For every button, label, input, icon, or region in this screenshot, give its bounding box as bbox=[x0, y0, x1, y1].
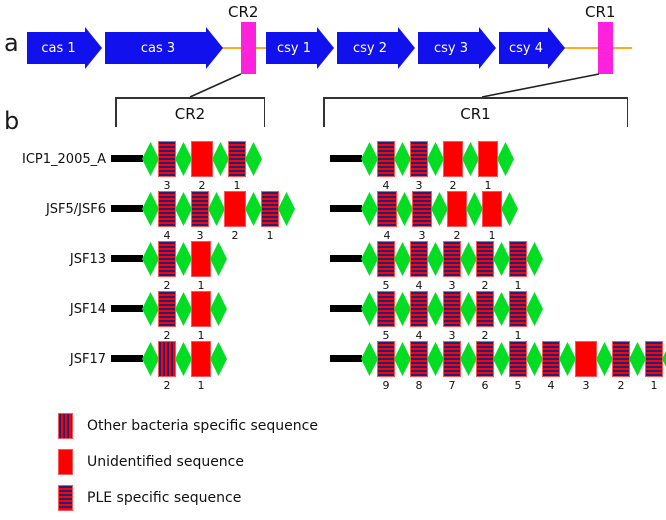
spacer-1[interactable]: 1 bbox=[261, 191, 279, 227]
repeat-unit bbox=[431, 192, 448, 226]
repeat-unit bbox=[629, 342, 646, 376]
crispr-array-cr2: 21 bbox=[143, 336, 226, 382]
repeat-unit bbox=[460, 292, 477, 326]
spacer-number: 1 bbox=[198, 380, 205, 391]
spacer-2[interactable]: 2 bbox=[224, 191, 246, 227]
spacer-number: 5 bbox=[515, 380, 522, 391]
spacer-2[interactable]: 2 bbox=[158, 341, 176, 377]
spacer-number: 6 bbox=[482, 380, 489, 391]
spacer-number: 9 bbox=[383, 380, 390, 391]
repeat-unit bbox=[210, 242, 227, 276]
repeat-unit bbox=[245, 142, 262, 176]
spacer-number: 4 bbox=[548, 380, 555, 391]
spacer-4[interactable]: 4 bbox=[542, 341, 560, 377]
repeat-unit bbox=[175, 342, 192, 376]
spacer-1[interactable]: 1 bbox=[482, 191, 502, 227]
crispr-array-cr2: 321 bbox=[143, 136, 261, 182]
spacer-4[interactable]: 4 bbox=[410, 241, 428, 277]
leader-sequence-cr1 bbox=[330, 305, 362, 312]
gene-label-cas3: cas 3 bbox=[105, 41, 223, 56]
leader-sequence-cr1 bbox=[330, 205, 362, 212]
repeat-unit bbox=[427, 142, 444, 176]
legend-swatch-ple bbox=[58, 485, 73, 511]
spacer-1[interactable]: 1 bbox=[191, 241, 211, 277]
crispr-array-cr1: 54321 bbox=[362, 236, 542, 282]
spacer-1[interactable]: 1 bbox=[478, 141, 498, 177]
crispr-array-cr2: 21 bbox=[143, 286, 226, 332]
leader-sequence-cr2 bbox=[111, 205, 143, 212]
repeat-unit bbox=[526, 242, 543, 276]
legend-row: PLE specific sequence bbox=[58, 484, 318, 512]
repeat-unit bbox=[175, 142, 192, 176]
gene-label-cas1: cas 1 bbox=[27, 41, 102, 56]
repeat-unit bbox=[175, 292, 192, 326]
spacer-number: 2 bbox=[164, 380, 171, 391]
repeat-unit bbox=[361, 292, 378, 326]
repeat-unit bbox=[210, 292, 227, 326]
spacer-number: 8 bbox=[416, 380, 423, 391]
repeat-unit bbox=[361, 142, 378, 176]
spacer-3[interactable]: 3 bbox=[575, 341, 597, 377]
spacer-1[interactable]: 1 bbox=[191, 341, 211, 377]
leader-sequence-cr2 bbox=[111, 355, 143, 362]
crispr-array-cr1: 54321 bbox=[362, 286, 542, 332]
spacer-3[interactable]: 3 bbox=[410, 141, 428, 177]
repeat-unit bbox=[462, 142, 479, 176]
row-label: JSF14 bbox=[0, 303, 106, 316]
crispr-array-cr1: 987654321 bbox=[362, 336, 666, 382]
spacer-number: 1 bbox=[267, 230, 274, 241]
row-label: ICP1_2005_A bbox=[0, 153, 106, 166]
leader-sequence-cr2 bbox=[111, 155, 143, 162]
spacer-3[interactable]: 3 bbox=[443, 241, 461, 277]
gene-label-csy4: csy 4 bbox=[499, 41, 565, 56]
repeat-unit bbox=[361, 242, 378, 276]
repeat-unit bbox=[394, 142, 411, 176]
repeat-unit bbox=[526, 342, 543, 376]
row-label: JSF17 bbox=[0, 353, 106, 366]
repeat-unit bbox=[559, 342, 576, 376]
legend-swatch-other bbox=[58, 413, 73, 439]
legend: Other bacteria specific sequenceUnidenti… bbox=[58, 412, 318, 520]
spacer-9[interactable]: 9 bbox=[377, 341, 395, 377]
spacer-2[interactable]: 2 bbox=[443, 141, 463, 177]
repeat-unit bbox=[526, 292, 543, 326]
spacer-3[interactable]: 3 bbox=[191, 191, 209, 227]
spacer-number: 3 bbox=[583, 380, 590, 391]
leader-sequence-cr2 bbox=[111, 305, 143, 312]
repeat-unit bbox=[493, 342, 510, 376]
spacer-4[interactable]: 4 bbox=[377, 191, 397, 227]
spacer-5[interactable]: 5 bbox=[377, 291, 395, 327]
legend-row: Other bacteria specific sequence bbox=[58, 412, 318, 440]
leader-sequence-cr1 bbox=[330, 255, 362, 262]
repeat-unit bbox=[427, 342, 444, 376]
repeat-unit bbox=[394, 242, 411, 276]
spacer-1[interactable]: 1 bbox=[509, 241, 527, 277]
repeat-unit bbox=[175, 192, 192, 226]
repeat-unit bbox=[142, 342, 159, 376]
row-label: JSF5/JSF6 bbox=[0, 203, 106, 216]
legend-row: Unidentified sequence bbox=[58, 448, 318, 476]
repeat-unit bbox=[142, 142, 159, 176]
repeat-unit bbox=[278, 192, 295, 226]
repeat-unit bbox=[466, 192, 483, 226]
spacer-2[interactable]: 2 bbox=[158, 241, 176, 277]
spacer-3[interactable]: 3 bbox=[412, 191, 432, 227]
spacer-2[interactable]: 2 bbox=[476, 241, 494, 277]
legend-label: Unidentified sequence bbox=[87, 454, 244, 470]
crispr-array-cr1: 4321 bbox=[362, 186, 517, 232]
spacer-4[interactable]: 4 bbox=[410, 291, 428, 327]
spacer-2[interactable]: 2 bbox=[612, 341, 630, 377]
repeat-unit bbox=[493, 242, 510, 276]
spacer-2[interactable]: 2 bbox=[476, 291, 494, 327]
spacer-1[interactable]: 1 bbox=[645, 341, 663, 377]
repeat-unit bbox=[212, 142, 229, 176]
spacer-1[interactable]: 1 bbox=[191, 291, 211, 327]
legend-swatch-unid bbox=[58, 449, 73, 475]
repeat-unit bbox=[210, 342, 227, 376]
repeat-unit bbox=[497, 142, 514, 176]
repeat-unit bbox=[396, 192, 413, 226]
repeat-unit bbox=[394, 342, 411, 376]
gene-label-csy2: csy 2 bbox=[337, 41, 415, 56]
spacer-3[interactable]: 3 bbox=[443, 291, 461, 327]
legend-label: Other bacteria specific sequence bbox=[87, 418, 318, 434]
spacer-number: 1 bbox=[651, 380, 658, 391]
repeat-unit bbox=[460, 342, 477, 376]
repeat-unit bbox=[142, 192, 159, 226]
repeat-unit bbox=[361, 192, 378, 226]
repeat-unit bbox=[142, 292, 159, 326]
gene-label-csy1: csy 1 bbox=[266, 41, 334, 56]
leader-sequence-cr2 bbox=[111, 255, 143, 262]
repeat-unit bbox=[142, 242, 159, 276]
spacer-2[interactable]: 2 bbox=[191, 141, 213, 177]
repeat-unit bbox=[427, 242, 444, 276]
repeat-unit bbox=[460, 242, 477, 276]
repeat-unit bbox=[501, 192, 518, 226]
spacer-4[interactable]: 4 bbox=[377, 141, 395, 177]
spacer-5[interactable]: 5 bbox=[509, 341, 527, 377]
spacer-5[interactable]: 5 bbox=[377, 241, 395, 277]
repeat-unit bbox=[394, 292, 411, 326]
spacer-6[interactable]: 6 bbox=[476, 341, 494, 377]
repeat-unit bbox=[175, 242, 192, 276]
spacer-2[interactable]: 2 bbox=[158, 291, 176, 327]
spacer-1[interactable]: 1 bbox=[509, 291, 527, 327]
gene-label-csy3: csy 3 bbox=[418, 41, 496, 56]
spacer-8[interactable]: 8 bbox=[410, 341, 428, 377]
repeat-unit bbox=[361, 342, 378, 376]
crispr-array-cr2: 4321 bbox=[143, 186, 294, 232]
spacer-7[interactable]: 7 bbox=[443, 341, 461, 377]
spacer-3[interactable]: 3 bbox=[158, 141, 176, 177]
repeat-unit bbox=[245, 192, 262, 226]
spacer-1[interactable]: 1 bbox=[228, 141, 246, 177]
repeat-unit bbox=[427, 292, 444, 326]
crispr-array-cr2: 21 bbox=[143, 236, 226, 282]
leader-sequence-cr1 bbox=[330, 155, 362, 162]
spacer-2[interactable]: 2 bbox=[447, 191, 467, 227]
genome-rows: ICP1_2005_A3214321JSF5/JSF643214321JSF13… bbox=[0, 0, 666, 410]
row-label: JSF13 bbox=[0, 253, 106, 266]
repeat-unit bbox=[208, 192, 225, 226]
spacer-number: 2 bbox=[618, 380, 625, 391]
crispr-array-cr1: 4321 bbox=[362, 136, 513, 182]
spacer-4[interactable]: 4 bbox=[158, 191, 176, 227]
legend-label: PLE specific sequence bbox=[87, 490, 241, 506]
spacer-number: 2 bbox=[232, 230, 239, 241]
leader-sequence-cr1 bbox=[330, 355, 362, 362]
repeat-unit bbox=[596, 342, 613, 376]
repeat-unit bbox=[493, 292, 510, 326]
spacer-number: 7 bbox=[449, 380, 456, 391]
